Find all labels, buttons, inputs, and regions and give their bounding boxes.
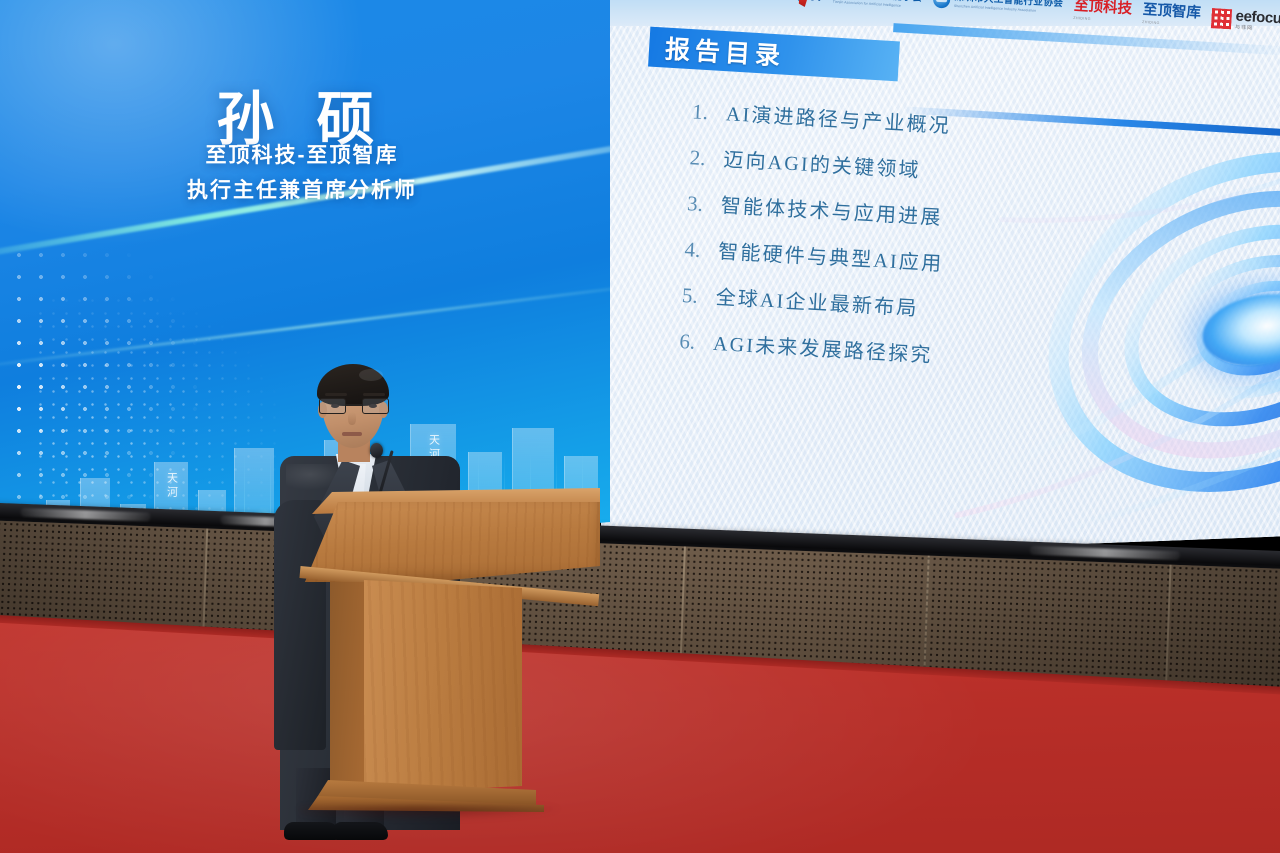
presentation-slide-screen: 天津市人工智能学会 Tianjin Association for Artifi… bbox=[601, 0, 1280, 562]
slide-banner-title: 报告目录 bbox=[648, 29, 786, 73]
eyeglass-bridge bbox=[346, 404, 362, 406]
toc-item-label: 智能硬件与典型AI应用 bbox=[718, 235, 945, 277]
list-item: 4. 智能硬件与典型AI应用 bbox=[678, 233, 1009, 280]
skyline-building-label: 天河 bbox=[164, 472, 180, 500]
podium-floor-shadow bbox=[300, 806, 560, 820]
pixel-grid-mark-icon bbox=[1211, 8, 1232, 29]
slide-toc-list: 1. AI演进路径与产业概况 2. 迈向AGI的关键领域 3. 智能体技术与应用… bbox=[672, 95, 1017, 389]
eefocus-logo: eefocus 与非网 bbox=[1211, 7, 1280, 34]
microphone-icon bbox=[370, 443, 383, 458]
list-item: 5. 全球AI企业最新布局 bbox=[675, 279, 1006, 326]
taai-logo: 天津市人工智能学会 Tianjin Association for Artifi… bbox=[798, 0, 922, 14]
toc-item-number: 4. bbox=[678, 237, 701, 263]
podium-side-panel bbox=[330, 582, 366, 788]
speaker-job-title: 执行主任兼首席分析师 bbox=[0, 174, 610, 204]
zhiding-tech-name-zh: 至顶科技 bbox=[1074, 0, 1133, 17]
conference-stage-photo: 天津市人工智能学会 Tianjin Association for Artifi… bbox=[0, 0, 1280, 853]
taai-arc-mark-icon bbox=[798, 0, 829, 8]
toc-item-number: 1. bbox=[685, 99, 708, 125]
taai-red-accent-icon bbox=[798, 0, 808, 7]
eyeglass-lens bbox=[319, 398, 346, 414]
list-item: 3. 智能体技术与应用进展 bbox=[680, 187, 1011, 234]
toc-item-number: 6. bbox=[673, 329, 696, 355]
toc-item-number: 5. bbox=[675, 283, 698, 309]
wooden-podium bbox=[300, 488, 600, 853]
list-item: 6. AGI未来发展路径探究 bbox=[673, 325, 1004, 372]
toc-item-label: 全球AI企业最新布局 bbox=[715, 281, 919, 321]
eyeglass-lens bbox=[362, 398, 389, 414]
bezel-reflection bbox=[1030, 546, 1180, 561]
globe-mark-icon bbox=[933, 0, 951, 9]
list-item: 2. 迈向AGI的关键领域 bbox=[683, 141, 1014, 188]
presenter-nose bbox=[348, 412, 356, 425]
toc-item-number: 2. bbox=[683, 145, 706, 171]
toc-item-label: AGI未来发展路径探究 bbox=[712, 327, 933, 368]
shenzhen-ai-logo: 深圳市人工智能行业协会 Shenzhen Artificial Intellig… bbox=[933, 0, 1064, 15]
toc-item-number: 3. bbox=[680, 191, 703, 217]
toc-item-label: 迈向AGI的关键领域 bbox=[723, 143, 922, 183]
presenter-eyebrow bbox=[363, 393, 385, 396]
presenter-eyebrow bbox=[325, 393, 347, 396]
zhiding-thinktank-name-zh: 至顶智库 bbox=[1142, 3, 1201, 21]
presenter-mouth bbox=[342, 432, 362, 436]
speaker-organization: 至顶科技-至顶智库 bbox=[0, 139, 610, 169]
bezel-reflection bbox=[20, 508, 150, 522]
podium-front-panel bbox=[364, 580, 522, 794]
podium-wood-grain bbox=[364, 580, 522, 794]
zhiding-tech-logo: 至顶科技 ZHIDING bbox=[1073, 0, 1132, 23]
toc-item-label: 智能体技术与应用进展 bbox=[720, 189, 943, 230]
zhiding-thinktank-logo: 至顶智库 ZHIDING bbox=[1142, 3, 1201, 27]
